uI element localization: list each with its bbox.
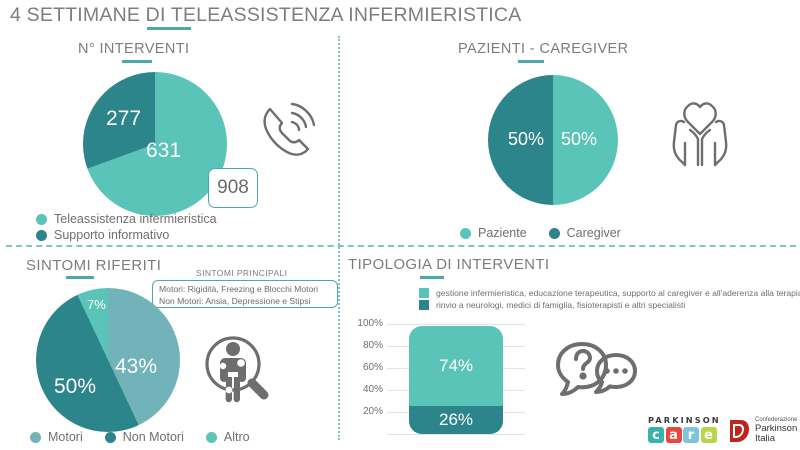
- pie-label-teleassistenza: 631: [146, 139, 181, 163]
- legend-item: rinvio a neurologi, medici di famiglia, …: [419, 300, 685, 310]
- infographic-page: 4 SETTIMANE DI TELEASSISTENZA INFERMIERI…: [0, 0, 800, 450]
- panel-title-sintomi: SINTOMI RIFERITI: [26, 257, 161, 274]
- legend-item: Supporto informativo: [36, 228, 169, 242]
- legend-swatch-icon: [36, 230, 47, 241]
- confederazione-line3: Italia: [755, 434, 797, 444]
- legend-item: Caregiver: [549, 226, 621, 240]
- legend-item: Non Motori: [105, 430, 184, 444]
- logo-letter-c: c: [648, 427, 664, 443]
- legend-label: Caregiver: [567, 226, 621, 240]
- legend-item: Paziente: [460, 226, 527, 240]
- legend-label: rinvio a neurologi, medici di famiglia, …: [436, 300, 685, 310]
- legend-label: Teleassistenza infermieristica: [54, 212, 217, 226]
- panel-underline-sintomi: [66, 276, 94, 279]
- legend-tipologia-2: rinvio a neurologi, medici di famiglia, …: [419, 300, 707, 310]
- stacked-bar: 74% 26%: [409, 326, 503, 434]
- legend-label: Non Motori: [123, 430, 184, 444]
- legend-swatch-icon: [36, 214, 47, 225]
- legend-swatch-icon: [105, 432, 116, 443]
- confederazione-mark-icon: [727, 418, 751, 444]
- legend-sintomi: Motori Non Motori Altro: [30, 430, 272, 444]
- logo-letter-a: a: [666, 427, 682, 443]
- sintomi-principali-title: SINTOMI PRINCIPALI: [196, 268, 287, 278]
- panel-title-tipologia: TIPOLOGIA DI INTERVENTI: [348, 256, 549, 273]
- pie-label-motori: 43%: [115, 355, 157, 379]
- legend-label: Paziente: [478, 226, 527, 240]
- confederazione-text: Confederazione Parkinson Italia: [755, 417, 797, 444]
- legend-interventi-1: Teleassistenza infermieristica: [36, 212, 239, 226]
- person-magnifier-icon: [200, 333, 272, 405]
- sintomi-line-motori: Motori: Rigidità, Freezing e Blocchi Mot…: [159, 284, 331, 296]
- legend-swatch-icon: [549, 228, 560, 239]
- panel-underline-pazienti: [518, 60, 544, 63]
- sintomi-line-non-motori: Non Motori: Ansia, Depressione e Stipsi: [159, 296, 331, 308]
- grid-line: [387, 324, 525, 325]
- logo-letter-r: r: [683, 427, 699, 443]
- y-axis-tick: 20%: [345, 406, 383, 417]
- sintomi-principali-box: Motori: Rigidità, Freezing e Blocchi Mot…: [152, 280, 338, 308]
- legend-pazienti: Paziente Caregiver: [460, 226, 643, 240]
- panel-underline-tipologia: [420, 276, 444, 279]
- heart-in-hands-icon: [662, 96, 738, 172]
- chat-question-icon: [554, 338, 640, 402]
- horizontal-divider: [6, 245, 796, 247]
- pie-label-paziente: 50%: [561, 129, 597, 150]
- panel-title-interventi: N° INTERVENTI: [78, 41, 189, 57]
- logo-parkinson-word: PARKINSON: [648, 415, 721, 425]
- pie-label-supporto: 277: [106, 107, 141, 131]
- legend-label: gestione infermieristica, educazione ter…: [436, 288, 800, 298]
- legend-item: Altro: [206, 430, 250, 444]
- y-axis-tick: 80%: [345, 340, 383, 351]
- legend-swatch-icon: [206, 432, 217, 443]
- legend-label: Altro: [224, 430, 250, 444]
- legend-item: Teleassistenza infermieristica: [36, 212, 217, 226]
- total-badge: 908: [208, 168, 258, 208]
- legend-interventi-2: Supporto informativo: [36, 228, 191, 242]
- title-underline: [147, 27, 191, 30]
- logo-parkinson-care: PARKINSON c a r e: [648, 415, 721, 443]
- legend-label: Motori: [48, 430, 83, 444]
- logo-letter-e: e: [701, 427, 717, 443]
- page-title: 4 SETTIMANE DI TELEASSISTENZA INFERMIERI…: [10, 4, 521, 27]
- legend-item: gestione infermieristica, educazione ter…: [419, 288, 800, 298]
- legend-item: Motori: [30, 430, 83, 444]
- pie-chart-sintomi: [36, 288, 180, 432]
- legend-label: Supporto informativo: [54, 228, 169, 242]
- legend-swatch-icon: [460, 228, 471, 239]
- y-axis-tick: 100%: [345, 318, 383, 329]
- pie-label-non-motori: 50%: [54, 375, 96, 399]
- legend-swatch-icon: [30, 432, 41, 443]
- y-axis-tick: 40%: [345, 384, 383, 395]
- legend-swatch-icon: [419, 288, 429, 298]
- y-axis-tick: 60%: [345, 362, 383, 373]
- grid-line: [387, 434, 525, 435]
- vertical-divider: [338, 36, 340, 440]
- legend-tipologia-1: gestione infermieristica, educazione ter…: [419, 288, 800, 298]
- logo-confederazione-parkinson-italia: Confederazione Parkinson Italia: [727, 417, 797, 444]
- phone-ringing-icon: [258, 98, 324, 160]
- legend-swatch-icon: [419, 300, 429, 310]
- panel-underline-interventi: [122, 60, 152, 63]
- bar-segment-rinvio: 26%: [409, 406, 503, 434]
- panel-title-pazienti: PAZIENTI - CAREGIVER: [458, 41, 628, 57]
- pie-label-altro: 7%: [87, 297, 106, 312]
- logo-care-boxes: c a r e: [648, 427, 721, 443]
- pie-label-caregiver: 50%: [508, 129, 544, 150]
- bar-chart-tipologia: 100% 80% 60% 40% 20% 74% 26%: [345, 318, 540, 440]
- bar-segment-gestione: 74%: [409, 326, 503, 406]
